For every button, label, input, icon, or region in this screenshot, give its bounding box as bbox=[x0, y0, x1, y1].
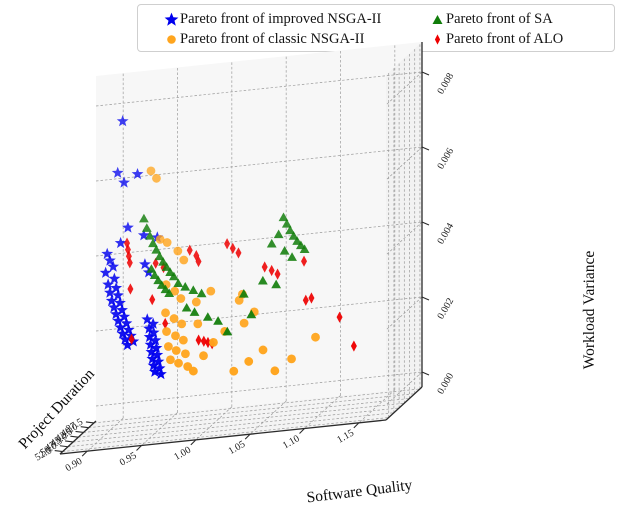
z-tick bbox=[422, 147, 429, 150]
z-tick bbox=[422, 372, 429, 375]
scatter3d-plot: 0.900.951.001.051.101.1537.540.042.545.0… bbox=[0, 0, 627, 531]
data-point-circle bbox=[189, 367, 198, 376]
data-point-circle bbox=[240, 319, 249, 328]
data-point-circle bbox=[152, 174, 161, 183]
x-tick-label: 0.95 bbox=[118, 450, 139, 468]
data-point-circle bbox=[206, 287, 215, 296]
data-point-circle bbox=[244, 357, 253, 366]
z-tick bbox=[422, 222, 429, 225]
data-point-circle bbox=[177, 319, 186, 328]
data-point-circle bbox=[171, 331, 180, 340]
data-point-circle bbox=[287, 354, 296, 363]
data-point-circle bbox=[173, 247, 182, 256]
z-tick-label: 0.006 bbox=[435, 146, 456, 171]
data-point-circle bbox=[179, 256, 188, 265]
data-point-circle bbox=[174, 359, 183, 368]
x-tick-label: 1.05 bbox=[227, 439, 248, 457]
data-point-circle bbox=[147, 167, 156, 176]
y-tick bbox=[86, 422, 94, 423]
data-point-circle bbox=[192, 298, 201, 307]
x-tick-label: 1.15 bbox=[335, 428, 356, 446]
data-point-circle bbox=[166, 355, 175, 364]
z-tick bbox=[422, 72, 429, 75]
x-axis-title: Software Quality bbox=[306, 477, 414, 507]
z-tick-label: 0.008 bbox=[435, 71, 456, 96]
data-point-circle bbox=[179, 336, 188, 345]
data-point-circle bbox=[311, 333, 320, 342]
data-point-circle bbox=[162, 327, 171, 336]
data-point-circle bbox=[259, 346, 268, 355]
z-axis-title: Workload Variance bbox=[581, 251, 598, 370]
data-point-circle bbox=[199, 351, 208, 360]
data-point-circle bbox=[270, 366, 279, 375]
z-tick-label: 0.000 bbox=[435, 371, 456, 396]
data-point-circle bbox=[176, 294, 185, 303]
data-point-circle bbox=[163, 238, 172, 247]
data-point-circle bbox=[170, 314, 179, 323]
data-point-circle bbox=[172, 346, 181, 355]
x-tick-label: 1.10 bbox=[281, 433, 302, 451]
data-point-circle bbox=[229, 367, 238, 376]
z-tick-label: 0.002 bbox=[435, 296, 456, 321]
data-point-circle bbox=[164, 342, 173, 351]
data-point-circle bbox=[161, 308, 170, 317]
x-tick-label: 0.90 bbox=[64, 456, 85, 474]
z-tick-label: 0.004 bbox=[435, 221, 456, 246]
data-point-circle bbox=[193, 319, 202, 328]
x-tick-label: 1.00 bbox=[172, 445, 193, 463]
data-point-circle bbox=[209, 338, 218, 347]
data-point-circle bbox=[181, 349, 190, 358]
z-tick bbox=[422, 297, 429, 300]
figure-root: Pareto front of improved NSGA-II Pareto … bbox=[0, 0, 627, 531]
